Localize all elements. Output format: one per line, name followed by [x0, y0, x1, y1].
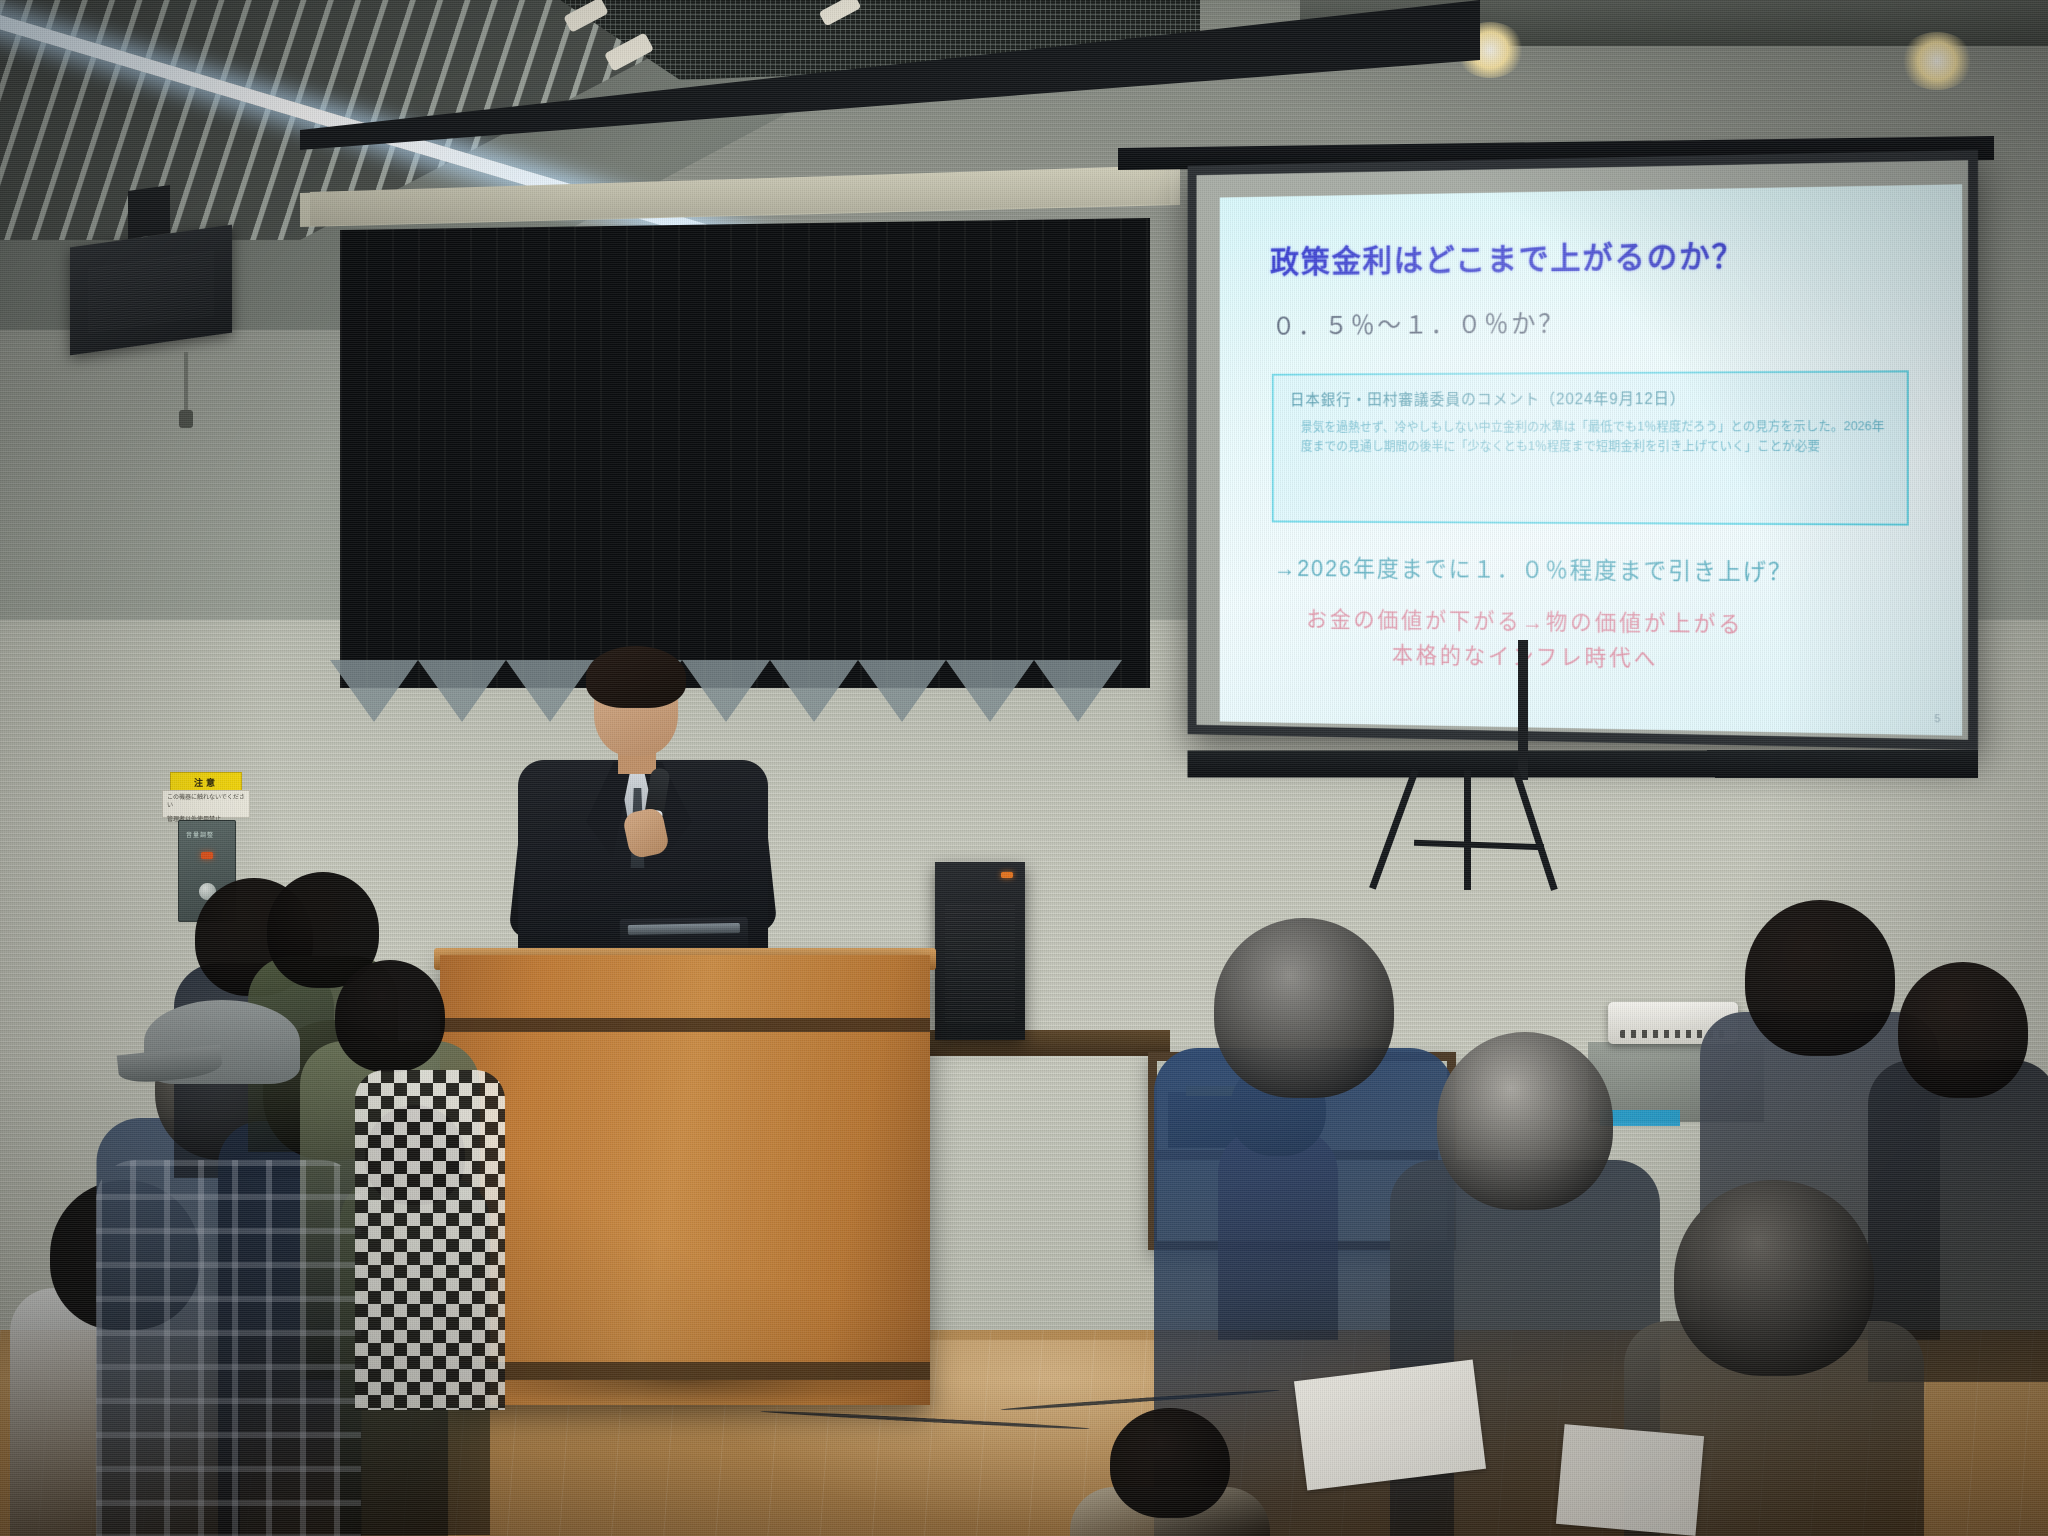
screen-frame: 政策金利はどこまで上がるのか？ ０．５％～１．０％か？ 日本銀行・田村審議委員の…	[1188, 150, 1978, 750]
projection-screen: 政策金利はどこまで上がるのか？ ０．５％～１．０％か？ 日本銀行・田村審議委員の…	[1138, 150, 1978, 790]
audience-member-head	[1674, 1180, 1874, 1376]
presentation-slide: 政策金利はどこまで上がるのか？ ０．５％～１．０％か？ 日本銀行・田村審議委員の…	[1220, 184, 1962, 735]
audience-member-head	[1110, 1408, 1230, 1518]
podium-trim-lower	[440, 1362, 930, 1380]
hanging-microphone-icon	[184, 352, 188, 412]
screen-pole	[1518, 640, 1528, 780]
tripod-stand	[1400, 770, 1630, 900]
instruction-sign-white: この機器に触れないでください 管理者以外使用禁止	[162, 790, 250, 818]
amp-power-led-icon	[1001, 872, 1013, 878]
amplifier-cabinet	[935, 862, 1025, 1040]
wall-speaker-icon	[70, 225, 232, 356]
podium-shadow	[450, 1380, 920, 1410]
audience-gray-cap	[144, 1000, 300, 1084]
audience-member-head	[1437, 1032, 1613, 1210]
slide-emphasis-line-1: お金の価値が下がる→物の価値が上がる	[1306, 601, 1743, 639]
audience-member-a14	[1070, 1408, 1270, 1536]
amp-grill	[945, 902, 1015, 1022]
audience-member-head	[1898, 962, 2028, 1098]
plaid-pattern-overlay	[96, 1160, 361, 1536]
presenter-hair	[586, 646, 686, 708]
podium-trim-upper	[440, 1018, 930, 1032]
audience-member-head	[1214, 918, 1394, 1098]
stage-curtain	[340, 218, 1150, 688]
audience-member-head	[1745, 900, 1895, 1056]
screen-border: 政策金利はどこまで上がるのか？ ０．５％～１．０％か？ 日本銀行・田村審議委員の…	[1197, 160, 1969, 740]
spotlight-icon	[1900, 32, 1974, 90]
power-led-icon	[201, 852, 213, 859]
quote-box-heading: 日本銀行・田村審議委員のコメント（2024年9月12日）	[1290, 385, 1686, 410]
control-panel-label: 音量調整	[186, 830, 214, 839]
handout-paper[interactable]	[1556, 1424, 1704, 1536]
slide-conclusion-arrow: →2026年度までに１．０％程度まで引き上げ？	[1274, 549, 1793, 587]
slide-page-number: 5	[1934, 713, 1940, 725]
checkered-pattern-overlay	[355, 1070, 505, 1410]
warning-sign-yellow: 注意	[170, 772, 242, 792]
slide-subtitle: ０．５％～１．０％か？	[1272, 304, 1566, 342]
audience-member-head	[335, 960, 445, 1072]
slide-title: 政策金利はどこまで上がるのか？	[1270, 231, 1744, 282]
slide-quote-box: 日本銀行・田村審議委員のコメント（2024年9月12日） 景気を過熱せず、冷やし…	[1272, 370, 1909, 525]
warning-sign-label: 注意	[171, 773, 241, 791]
handout-paper[interactable]	[1294, 1359, 1486, 1490]
lecture-hall-photo: 注意 この機器に触れないでください 管理者以外使用禁止 音量調整 政策金利はどこ…	[0, 0, 2048, 1536]
instruction-line-1: この機器に触れないでください	[163, 791, 249, 813]
speaker-bracket	[128, 185, 170, 239]
quote-box-body: 景気を過熱せず、冷やしもしない中立金利の水準は「最低でも1％程度だろう」との見方…	[1301, 416, 1889, 456]
